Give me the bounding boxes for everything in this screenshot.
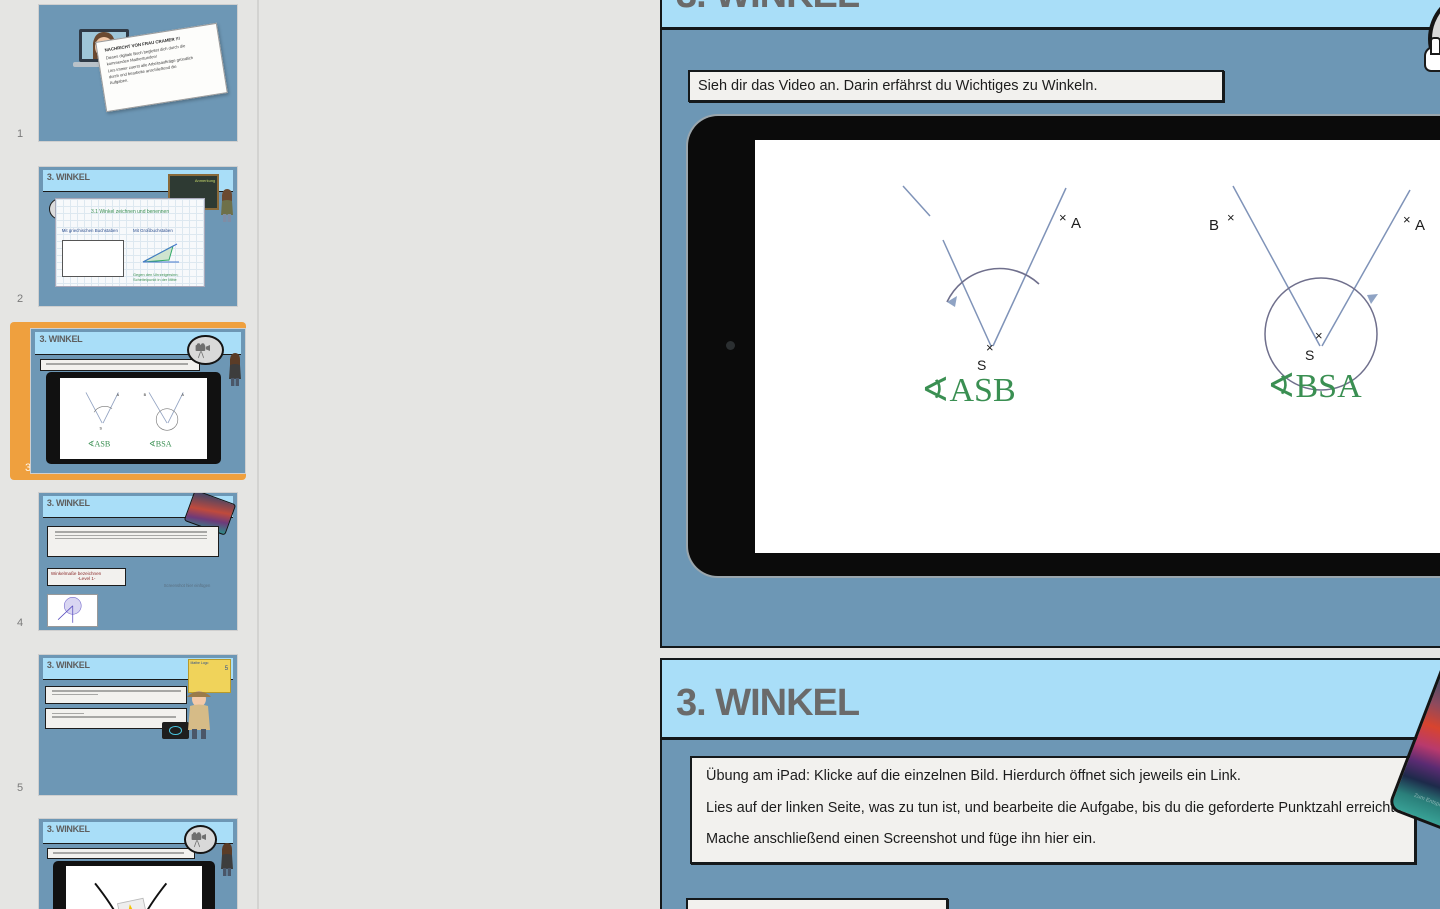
screenshot-placeholder: Screenshot hier einfügen bbox=[164, 583, 211, 588]
level-box: Winkelmaße bezeichnen-Level 1- bbox=[47, 568, 126, 586]
thumbnail-preview: 3. WINKELMathe Logo5 bbox=[39, 655, 237, 795]
thumb-task-box bbox=[47, 526, 219, 558]
svg-text:×: × bbox=[1315, 328, 1323, 343]
pointing-hand-icon bbox=[1424, 46, 1440, 72]
video-camera-icon bbox=[187, 335, 223, 365]
slide-number: 4 bbox=[0, 617, 40, 629]
svg-text:×: × bbox=[1403, 212, 1411, 227]
thumbnail-preview: 3. WINKELWinkelmaße bezeichnen-Level 1-S… bbox=[39, 493, 237, 630]
teacher-avatar bbox=[219, 843, 235, 877]
worksheet-title: 3.1 Winkel zeichnen und benennen bbox=[56, 209, 204, 215]
teacher-avatar bbox=[219, 189, 235, 223]
worksheet: 3.1 Winkel zeichnen und benennenMit grie… bbox=[55, 198, 205, 287]
thumbnail-preview: 3. WINKELAnmerkung3.1 Winkel zeichnen un… bbox=[39, 167, 237, 306]
angle-label-asb: ∢ASB bbox=[921, 370, 1016, 410]
thumb-title: 3. WINKEL bbox=[47, 660, 90, 670]
worksheet-note: Gegen den Uhrzeigersinn; Scheitelpunkt i… bbox=[133, 272, 201, 282]
sidebar-slide-3[interactable]: 33. WINKELSABA∢ASB∢BSA bbox=[0, 322, 258, 480]
thumb-instruction-box bbox=[40, 359, 201, 371]
slide-3[interactable]: 3. WINKEL Sieh dir das Video an. Darin e… bbox=[660, 0, 1440, 648]
thumb-title: 3. WINKEL bbox=[47, 824, 90, 834]
slide-number: 2 bbox=[0, 293, 40, 305]
slide-number: 5 bbox=[0, 782, 40, 794]
video-camera-icon bbox=[184, 825, 218, 854]
svg-text:B: B bbox=[1209, 217, 1219, 234]
task-line-3: Mache anschließend einen Screenshot und … bbox=[706, 832, 1400, 847]
slide-thumbnail[interactable]: 3. WINKELWinkelmaße bezeichnen-Level 1-S… bbox=[38, 492, 238, 631]
thumb-arrows-figure bbox=[66, 866, 202, 909]
exercise-image bbox=[47, 594, 98, 627]
task-textbox[interactable]: Übung am iPad: Klicke auf die einzelnen … bbox=[690, 756, 1416, 864]
slide-number: 1 bbox=[0, 128, 40, 140]
svg-text:×: × bbox=[986, 340, 994, 355]
task-line-2: Lies auf der linken Seite, was zu tun is… bbox=[706, 801, 1400, 816]
svg-text:A: A bbox=[1071, 215, 1081, 232]
svg-text:A: A bbox=[181, 393, 184, 397]
angle-label-bsa: ∢BSA bbox=[1267, 366, 1362, 406]
tablet-screen[interactable]: × S × A ∢ASB bbox=[755, 140, 1440, 553]
sidebar-slide-2[interactable]: 23. WINKELAnmerkung3.1 Winkel zeichnen u… bbox=[0, 166, 258, 311]
page-title: 3. WINKEL bbox=[676, 0, 859, 17]
slide-thumbnail-sidebar[interactable]: 1NACHRICHT VON FRAU CRAMER !!!Dieses dig… bbox=[0, 0, 258, 909]
thumb-title: 3. WINKEL bbox=[40, 334, 83, 344]
svg-text:S: S bbox=[99, 426, 102, 430]
svg-text:∢BSA: ∢BSA bbox=[149, 439, 172, 448]
sidebar-slide-4[interactable]: 43. WINKELWinkelmaße bezeichnen-Level 1-… bbox=[0, 492, 258, 635]
instruction-text: Sieh dir das Video an. Darin erfährst du… bbox=[698, 78, 1097, 94]
tablet-mockup: SABA∢ASB∢BSA bbox=[46, 372, 221, 464]
task-line-1: Übung am iPad: Klicke auf die einzelnen … bbox=[706, 769, 1400, 784]
thumb-angle-figures: SABA∢ASB∢BSA bbox=[60, 378, 207, 459]
sidebar-slide-6[interactable]: 63. WINKEL bbox=[0, 818, 258, 909]
next-textbox[interactable] bbox=[686, 898, 948, 909]
teacher-avatar bbox=[227, 353, 243, 387]
tablet-screen: SABA∢ASB∢BSA bbox=[60, 378, 207, 459]
slide-4[interactable]: 3. WINKEL 8:28 Mittwoch, Februar 20 Zum … bbox=[660, 658, 1440, 909]
col-right-label: Mit Großbuchstaben bbox=[133, 228, 173, 233]
instruction-textbox[interactable]: Sieh dir das Video an. Darin erfährst du… bbox=[688, 70, 1224, 102]
detective-avatar bbox=[185, 686, 213, 742]
tablet-camera-dot bbox=[726, 341, 735, 350]
tablet-mockup bbox=[53, 861, 215, 909]
panel-divider bbox=[257, 0, 259, 909]
slide-thumbnail[interactable]: 3. WINKELMathe Logo5 bbox=[38, 654, 238, 796]
sidebar-slide-1[interactable]: 1NACHRICHT VON FRAU CRAMER !!!Dieses dig… bbox=[0, 4, 258, 146]
svg-text:A: A bbox=[117, 393, 120, 397]
page-title: 3. WINKEL bbox=[676, 682, 859, 725]
presentation-editor: 1NACHRICHT VON FRAU CRAMER !!!Dieses dig… bbox=[0, 0, 1440, 909]
thumb-title: 3. WINKEL bbox=[47, 172, 90, 182]
thumbnail-preview: 3. WINKELSABA∢ASB∢BSA bbox=[31, 329, 245, 473]
svg-text:∢ASB: ∢ASB bbox=[88, 439, 111, 448]
col-left-label: Mit griechischen Buchstaben bbox=[62, 228, 121, 233]
tablet-screen bbox=[66, 866, 202, 909]
slide-thumbnail[interactable]: NACHRICHT VON FRAU CRAMER !!!Dieses digi… bbox=[38, 4, 238, 142]
svg-text:B: B bbox=[144, 393, 147, 397]
mini-angle-figure bbox=[139, 240, 183, 266]
slide-thumbnail[interactable]: 3. WINKELSABA∢ASB∢BSA bbox=[30, 328, 246, 474]
svg-text:×: × bbox=[1059, 210, 1067, 225]
slide-thumbnail[interactable]: 3. WINKELAnmerkung3.1 Winkel zeichnen un… bbox=[38, 166, 238, 307]
slide-thumbnail[interactable]: 3. WINKEL bbox=[38, 818, 238, 909]
svg-text:S: S bbox=[1305, 347, 1314, 363]
thumbnail-preview: NACHRICHT VON FRAU CRAMER !!!Dieses digi… bbox=[39, 5, 237, 141]
thumb-instruction-box bbox=[47, 848, 196, 859]
svg-text:×: × bbox=[1227, 210, 1235, 225]
thumb-task-box-1 bbox=[45, 686, 188, 704]
slide-canvas[interactable]: 3. WINKEL Sieh dir das Video an. Darin e… bbox=[258, 0, 1440, 909]
sidebar-slide-5[interactable]: 53. WINKELMathe Logo5 bbox=[0, 654, 258, 800]
thumb-title: 3. WINKEL bbox=[47, 498, 90, 508]
tablet-mockup[interactable]: × S × A ∢ASB bbox=[688, 116, 1440, 576]
ipad-lock-date: Mittwoch, Februar 20 bbox=[1435, 685, 1440, 736]
svg-text:A: A bbox=[1415, 217, 1425, 234]
thumbnail-preview: 3. WINKEL bbox=[39, 819, 237, 909]
